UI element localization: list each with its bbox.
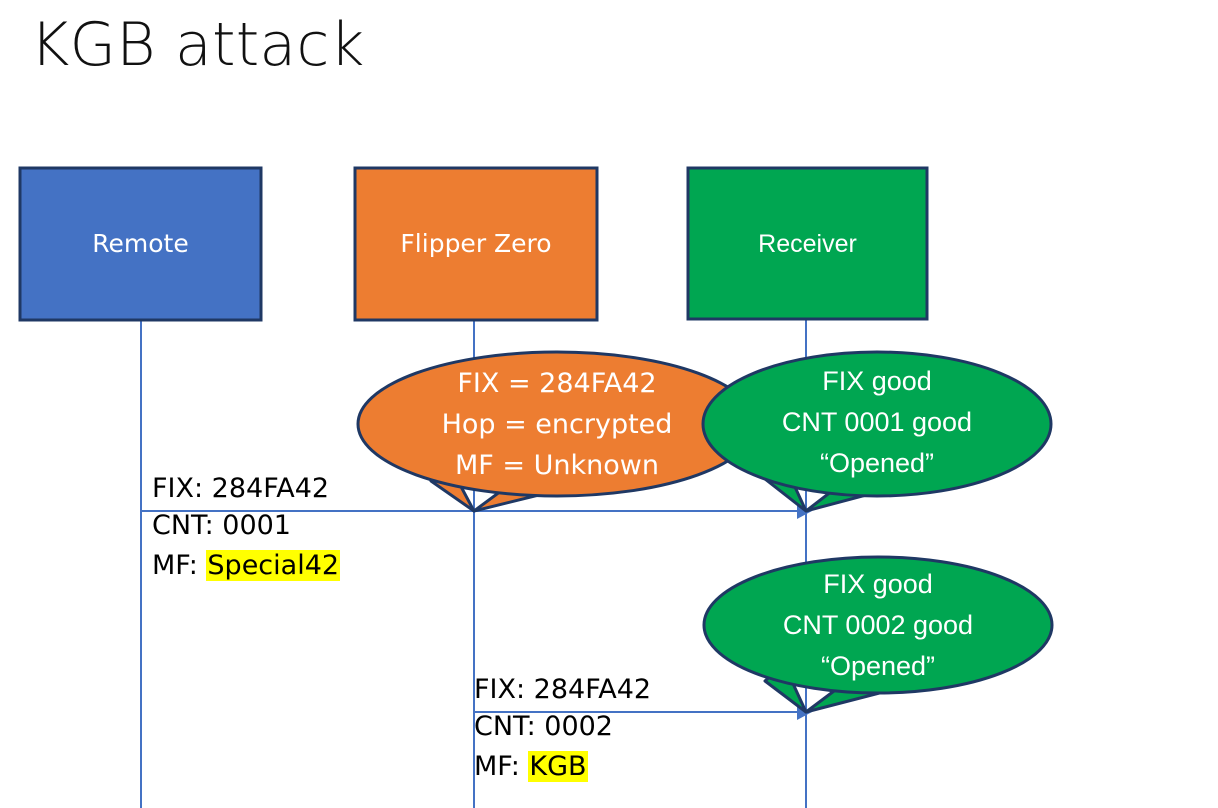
callout-flipper[interactable] [358,352,756,511]
message-1-cnt: CNT: 0001 [152,507,291,544]
actor-box-remote[interactable] [20,168,261,320]
actor-box-flipper-zero[interactable] [355,168,597,320]
slide-canvas: KGB attack [0,0,1218,808]
message-2-fix-prefix: FIX: [474,674,534,705]
message-2-fix-value: 284FA42 [534,674,651,705]
message-2-mf-value: KGB [528,751,587,782]
message-2-mf-prefix: MF: [474,751,528,782]
message-2-cnt-value: 0002 [544,711,613,742]
message-1-cnt-prefix: CNT: [152,510,222,541]
message-2-fix: FIX: 284FA42 [474,671,651,708]
callout-receiver-1[interactable] [703,352,1051,511]
message-1-mf: MF: Special42 [152,547,340,584]
message-1-cnt-value: 0001 [222,510,291,541]
message-1-fix-prefix: FIX: [152,473,212,504]
callout-receiver-2[interactable] [704,557,1052,712]
message-1-fix: FIX: 284FA42 [152,470,329,507]
message-2-mf: MF: KGB [474,748,588,785]
message-2-cnt: CNT: 0002 [474,708,613,745]
message-1-mf-prefix: MF: [152,550,206,581]
message-1-fix-value: 284FA42 [212,473,329,504]
message-1-mf-value: Special42 [206,550,340,581]
message-2-cnt-prefix: CNT: [474,711,544,742]
actor-box-receiver[interactable] [688,168,927,319]
